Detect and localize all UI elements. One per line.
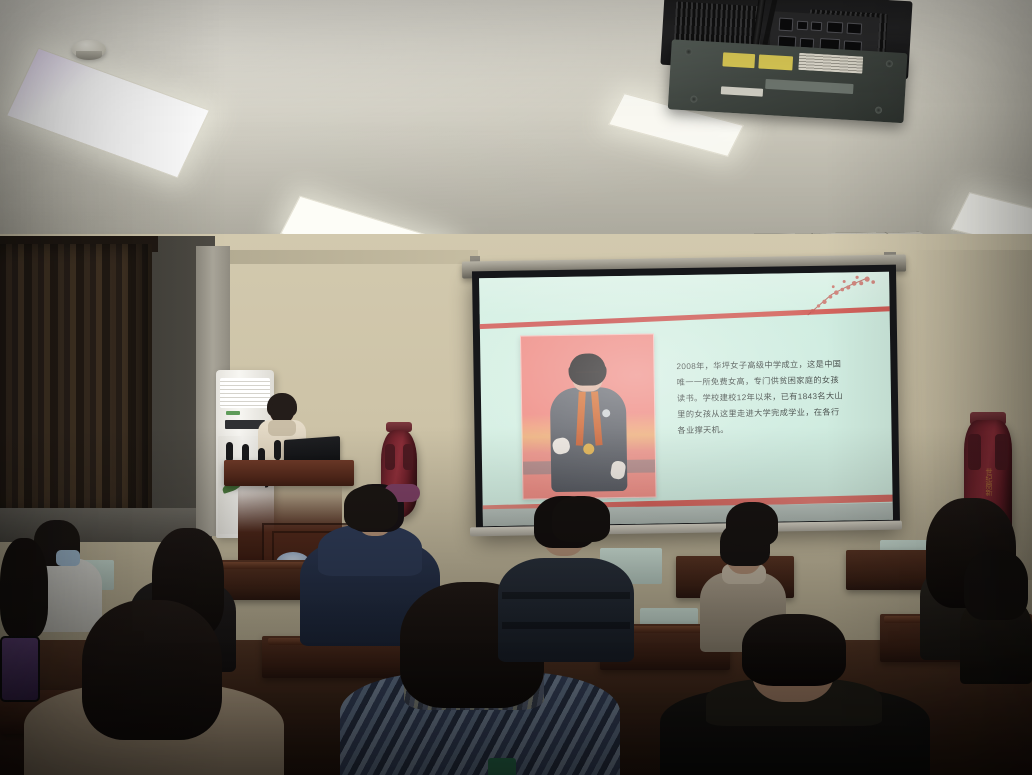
attendee-coat	[498, 558, 634, 662]
attendee-hair	[552, 496, 610, 542]
slide-portrait-photo	[520, 333, 657, 499]
vase-handle	[995, 434, 1008, 470]
projector-port	[827, 21, 844, 33]
medal-icon	[583, 443, 594, 454]
attendee-hair	[82, 600, 222, 740]
plum-blossom-icon	[797, 274, 884, 321]
vase-handle	[403, 444, 413, 470]
smartphone	[0, 636, 40, 702]
coat-seam	[502, 592, 630, 599]
lapel-pin-icon	[602, 409, 610, 417]
wall-upper-band	[228, 250, 478, 264]
slide-text-line: 各业撑天机。	[677, 420, 873, 439]
projector-mount-bolt	[886, 60, 893, 67]
attendee	[24, 600, 284, 775]
lectern-top	[224, 460, 354, 486]
attendee-hair	[742, 614, 846, 686]
smoke-detector-icon	[72, 40, 106, 58]
ac-brand-logo	[226, 411, 240, 415]
portrait-glasses-icon	[576, 371, 600, 378]
badge-icon	[488, 758, 516, 775]
ceiling-projector	[657, 0, 912, 129]
attendee	[960, 550, 1032, 680]
projector-mount-bolt	[690, 95, 697, 102]
microphone-icon	[274, 440, 281, 460]
projector-mount-bolt	[875, 106, 882, 113]
attendee	[552, 496, 610, 542]
projector-mount-bolt	[685, 48, 692, 55]
attendee	[660, 622, 930, 775]
attendee-hair	[964, 550, 1028, 620]
presenter-collar	[268, 420, 296, 436]
projector-port	[779, 18, 794, 32]
attendee-hair	[344, 486, 398, 530]
attendee	[344, 486, 398, 530]
projector-port	[797, 21, 809, 31]
slide-body-text: 2008年，华坪女子高级中学成立，这是中国 唯一一所免费女高，专门供贫困家庭的女…	[676, 356, 873, 439]
face-mask-icon	[56, 550, 80, 566]
vase-handle	[968, 434, 981, 470]
projector-spec-label	[798, 53, 863, 74]
presentation-slide: 2008年，华坪女子高级中学成立，这是中国 唯一一所免费女高，专门供贫困家庭的女…	[479, 272, 893, 526]
projector-lens-cover	[721, 86, 763, 96]
projector-port	[847, 23, 863, 35]
coat-seam	[502, 622, 630, 629]
projector-sticker	[722, 52, 755, 68]
vase-handle	[385, 444, 395, 470]
vase-inscription: 世纪鼎新	[984, 468, 992, 496]
projection-screen: 2008年，华坪女子高级中学成立，这是中国 唯一一所免费女高，专门供贫困家庭的女…	[472, 265, 900, 534]
lecture-hall-photo: 2008年，华坪女子高级中学成立，这是中国 唯一一所免费女高，专门供贫困家庭的女…	[0, 0, 1032, 775]
attendee	[726, 502, 778, 546]
projector-mount-plate	[668, 39, 908, 123]
attendee-hair	[726, 502, 778, 546]
projector-brand-plate	[765, 79, 853, 94]
window-curtain	[0, 244, 152, 516]
projector-port	[811, 21, 823, 31]
microphone-icon	[226, 442, 233, 462]
projector-sticker	[758, 54, 793, 70]
